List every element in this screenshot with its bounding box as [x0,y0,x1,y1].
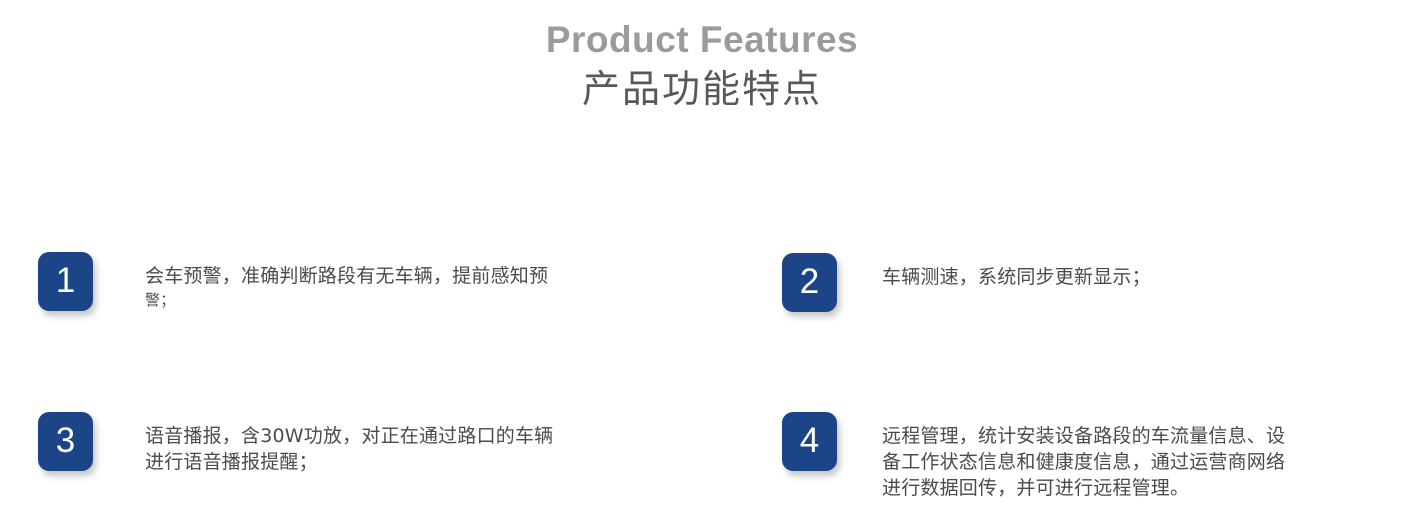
page-title-english: Product Features [0,18,1404,62]
feature-number-label-2: 2 [800,264,819,299]
feature-number-badge-4: 4 [782,412,837,471]
slide-canvas: Product Features 产品功能特点 1 会车预警，准确判断路段有无车… [0,0,1404,525]
feature-text-3-line-2: 进行语音播报提醒； [145,449,655,475]
feature-text-3-line-1: 语音播报，含30W功放，对正在通过路口的车辆 [145,423,655,449]
feature-text-4-line-1: 远程管理，统计安装设备路段的车流量信息、设 [882,423,1382,449]
feature-list: 1 会车预警，准确判断路段有无车辆，提前感知预 警； 2 车辆测速，系统同步更新… [0,252,1404,525]
feature-text-4-line-3: 进行数据回传，并可进行远程管理。 [882,475,1382,501]
feature-item-1: 1 会车预警，准确判断路段有无车辆，提前感知预 警； [38,252,698,311]
feature-text-1-line-2: 警； [145,289,655,311]
feature-text-4: 远程管理，统计安装设备路段的车流量信息、设 备工作状态信息和健康度信息，通过运营… [882,412,1382,501]
feature-text-4-line-2: 备工作状态信息和健康度信息，通过运营商网络 [882,449,1382,475]
feature-item-4: 4 远程管理，统计安装设备路段的车流量信息、设 备工作状态信息和健康度信息，通过… [782,412,1382,501]
feature-number-label-1: 1 [56,263,75,298]
feature-number-label-3: 3 [56,423,75,458]
page-title: Product Features 产品功能特点 [0,18,1404,114]
feature-item-3: 3 语音播报，含30W功放，对正在通过路口的车辆 进行语音播报提醒； [38,412,698,475]
feature-number-badge-2: 2 [782,253,837,312]
feature-item-2: 2 车辆测速，系统同步更新显示； [782,253,1382,312]
feature-text-1-line-1: 会车预警，准确判断路段有无车辆，提前感知预 [145,263,655,289]
feature-number-badge-1: 1 [38,252,93,311]
feature-number-badge-3: 3 [38,412,93,471]
feature-text-3: 语音播报，含30W功放，对正在通过路口的车辆 进行语音播报提醒； [145,412,655,475]
feature-number-label-4: 4 [800,423,819,458]
feature-text-2: 车辆测速，系统同步更新显示； [882,253,1382,290]
feature-text-1: 会车预警，准确判断路段有无车辆，提前感知预 警； [145,252,655,311]
page-title-chinese: 产品功能特点 [0,64,1404,114]
feature-text-2-line-1: 车辆测速，系统同步更新显示； [882,264,1382,290]
